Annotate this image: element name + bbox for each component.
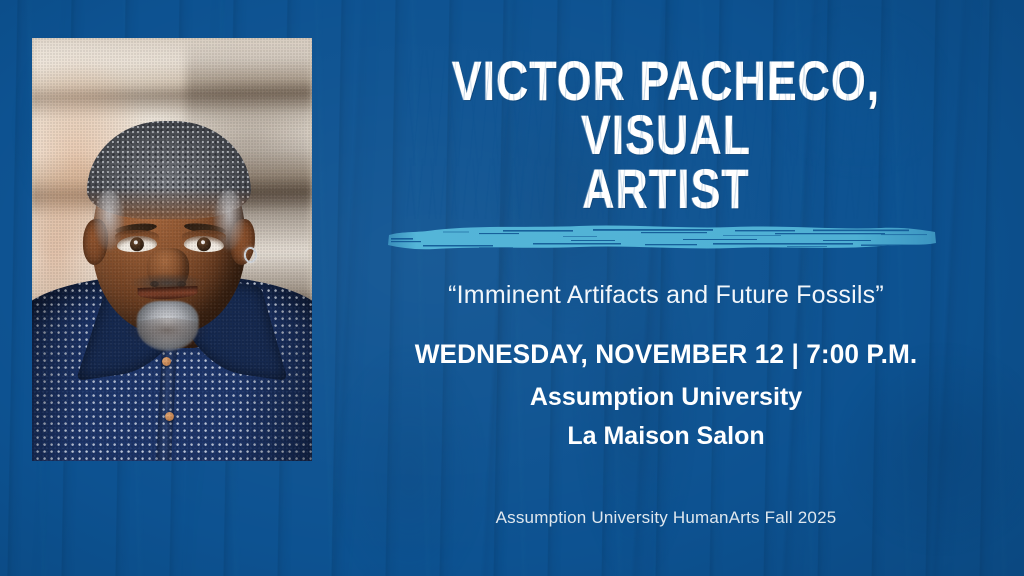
event-venue-line-1: Assumption University — [336, 383, 996, 412]
photo-head — [92, 129, 246, 334]
speaker-photo-inner — [32, 38, 312, 461]
page-title-line-2: Artist — [408, 162, 923, 216]
event-venue-line-2: La Maison Salon — [336, 422, 996, 451]
photo-mouth — [138, 286, 198, 300]
event-poster: Victor Pacheco, Visual Artist — [0, 0, 1024, 576]
poster-content: Victor Pacheco, Visual Artist — [336, 0, 996, 576]
photo-earring — [244, 247, 257, 263]
page-title: Victor Pacheco, Visual Artist — [408, 54, 923, 215]
event-datetime: WEDNESDAY, NOVEMBER 12 | 7:00 P.M. — [346, 339, 986, 370]
photo-eyelid-right — [182, 230, 226, 242]
poster-footer: Assumption University HumanArts Fall 202… — [336, 508, 996, 528]
photo-eyelid-left — [115, 230, 159, 242]
photo-chin-shadow — [124, 318, 210, 348]
brush-stroke-divider — [383, 221, 939, 255]
page-title-line-1: Victor Pacheco, Visual — [408, 54, 923, 162]
talk-title: “Imminent Artifacts and Future Fossils” — [336, 281, 996, 310]
speaker-photo — [32, 38, 312, 461]
